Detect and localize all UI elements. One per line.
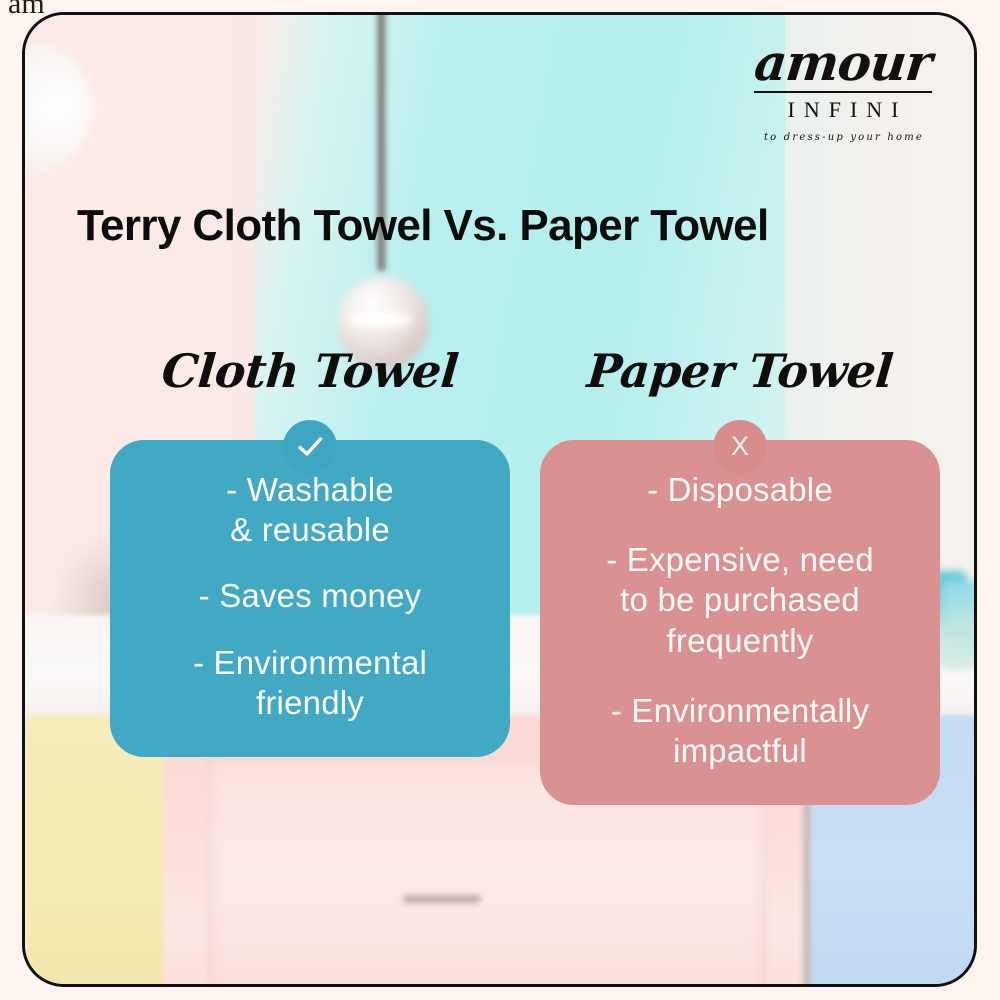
comparison-column-paper: Paper Towel X - Disposable - Expensive, … xyxy=(540,345,940,805)
list-item: - Saves money xyxy=(132,576,488,616)
brand-name-script: amour xyxy=(726,39,961,87)
poster-frame: amour INFINI to dress-up your home Terry… xyxy=(22,12,977,987)
background-cabinet-handle xyxy=(403,895,481,903)
background-jar-light xyxy=(943,581,974,669)
column-title-cloth: Cloth Towel xyxy=(108,345,513,398)
cross-icon-label: X xyxy=(731,433,749,460)
list-item: - Washable & reusable xyxy=(132,470,488,551)
column-title-paper: Paper Towel xyxy=(538,345,943,398)
list-item: - Disposable xyxy=(562,470,918,510)
check-icon xyxy=(283,420,337,474)
clipped-top-text: am xyxy=(8,0,45,21)
cross-icon: X xyxy=(713,420,767,474)
brand-name-infini: INFINI xyxy=(728,98,958,122)
list-item: - Environmental friendly xyxy=(132,643,488,724)
page-title: Terry Cloth Towel Vs. Paper Towel xyxy=(77,201,769,251)
comparison-column-cloth: Cloth Towel - Washable & reusable - Save… xyxy=(110,345,510,757)
list-item: - Environmentally impactful xyxy=(562,691,918,772)
list-item: - Expensive, need to be purchased freque… xyxy=(562,540,918,661)
cons-card: - Disposable - Expensive, need to be pur… xyxy=(540,440,940,806)
background-pendant-highlight xyxy=(347,311,413,328)
brand-logo: amour INFINI to dress-up your home xyxy=(728,39,958,143)
pros-card: - Washable & reusable - Saves money - En… xyxy=(110,440,510,757)
brand-tagline: to dress-up your home xyxy=(728,132,958,143)
